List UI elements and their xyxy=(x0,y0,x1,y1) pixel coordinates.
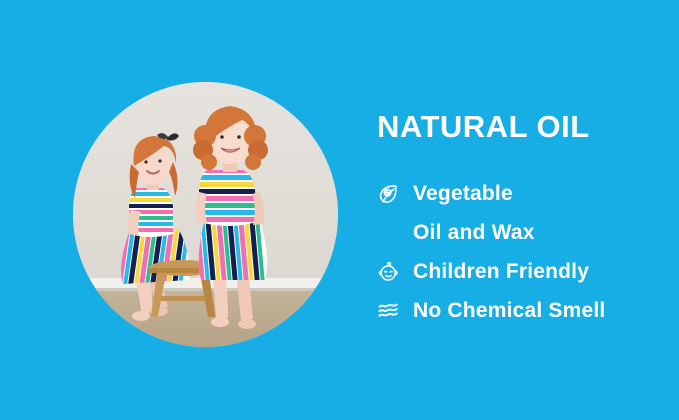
list-item: Oil and Wax xyxy=(377,214,667,252)
feature-label: No Chemical Smell xyxy=(413,299,605,323)
photo-scene xyxy=(73,82,338,347)
feature-list: Vegetable Oil and Wax xyxy=(377,175,667,330)
page-title: NATURAL OIL xyxy=(377,110,667,144)
feature-label: Vegetable xyxy=(413,182,513,206)
list-item: Vegetable xyxy=(377,175,667,213)
baby-face-icon xyxy=(377,259,413,285)
product-feature-banner: NATURAL OIL Vegetable Oil and Wax xyxy=(0,0,679,420)
list-item: Children Friendly xyxy=(377,253,667,291)
banner-content: NATURAL OIL Vegetable Oil and Wax xyxy=(377,110,667,331)
waves-icon xyxy=(377,298,413,324)
feature-label: Children Friendly xyxy=(413,260,589,284)
feature-label: Oil and Wax xyxy=(413,221,535,245)
product-photo xyxy=(73,82,338,347)
leaf-icon xyxy=(377,181,413,207)
list-item: No Chemical Smell xyxy=(377,292,667,330)
